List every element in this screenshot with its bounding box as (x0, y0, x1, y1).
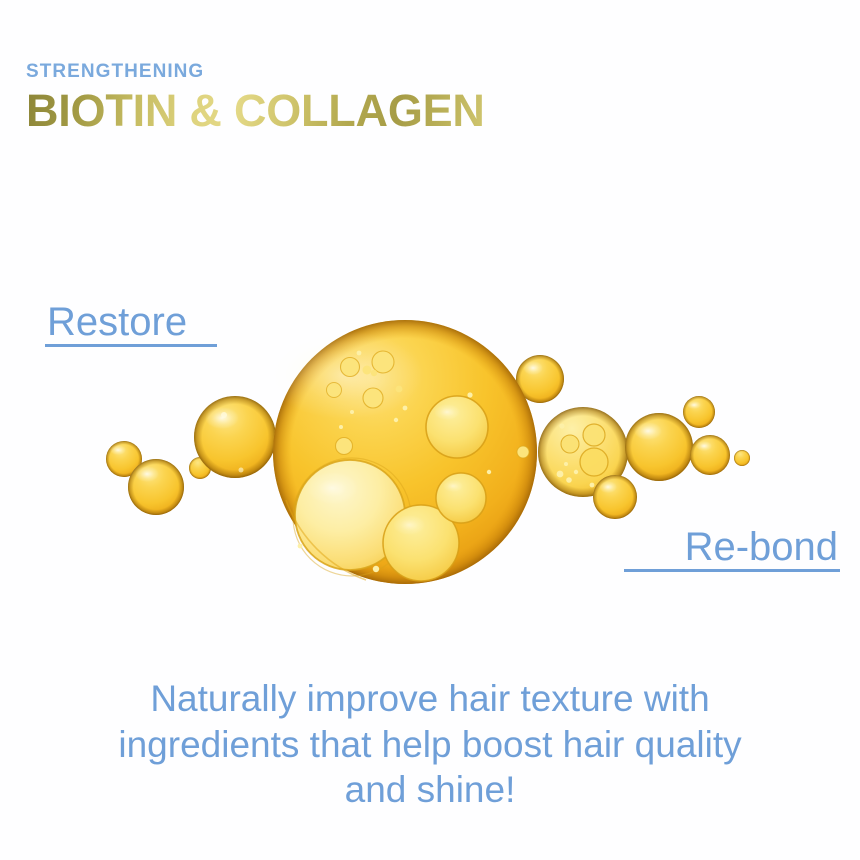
page-title: BIOTIN & COLLAGEN (26, 87, 726, 134)
bubble-right-tiny (734, 450, 750, 466)
inner-bubble-mid-right (426, 396, 488, 458)
oil-bubbles-svg (0, 300, 860, 620)
body-copy: Naturally improve hair texture with ingr… (0, 676, 860, 813)
body-copy-line-1: Naturally improve hair texture with (0, 676, 860, 722)
bubble-right-bottom-small (593, 475, 637, 519)
right-bubble-group (516, 355, 750, 519)
left-bubble-group (106, 396, 276, 515)
body-copy-line-2: ingredients that help boost hair quality (0, 722, 860, 768)
promo-canvas: STRENGTHENING BIOTIN & COLLAGEN Restore … (0, 0, 860, 860)
eyebrow-label: STRENGTHENING (26, 62, 726, 81)
inner-bubble-lower-right (436, 473, 486, 523)
inner-micro-bubble-3 (487, 470, 491, 474)
inner-micro-bubble-1 (373, 566, 379, 572)
heading-block: STRENGTHENING BIOTIN & COLLAGEN (26, 62, 726, 134)
oil-bubbles-image (0, 300, 860, 620)
bubble-main-droplet (267, 320, 537, 584)
body-copy-line-3: and shine! (0, 767, 860, 813)
bubble-right-mid-small (690, 435, 730, 475)
inner-bubble-right-edge (517, 446, 529, 458)
bubble-left-large-1 (194, 396, 276, 478)
bubble-right-large (625, 413, 693, 481)
bubble-right-upper-small (683, 396, 715, 428)
bubble-left-medium-1 (128, 459, 184, 515)
inner-bubble-mid-left (336, 438, 353, 455)
inner-micro-bubble-2 (298, 544, 303, 549)
